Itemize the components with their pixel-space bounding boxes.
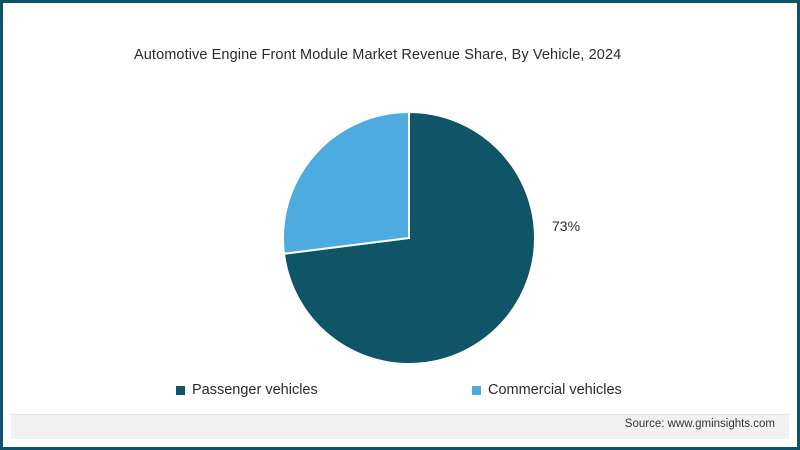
pie-slice[interactable] bbox=[283, 112, 409, 254]
pie-slice-percent-label: 73% bbox=[552, 218, 580, 234]
legend-item-label: Passenger vehicles bbox=[192, 381, 318, 399]
source-bar: Source: www.gminsights.com bbox=[11, 414, 789, 439]
pie-chart bbox=[280, 109, 538, 367]
legend-item-label: Commercial vehicles bbox=[488, 381, 622, 399]
source-attribution: Source: www.gminsights.com bbox=[625, 418, 775, 430]
legend-item-commercial-vehicles[interactable]: Commercial vehicles bbox=[472, 379, 622, 401]
legend-item-passenger-vehicles[interactable]: Passenger vehicles bbox=[176, 379, 318, 401]
chart-container: Automotive Engine Front Module Market Re… bbox=[0, 0, 800, 450]
legend-swatch-icon bbox=[472, 386, 481, 395]
chart-legend: Passenger vehicles Commercial vehicles bbox=[7, 379, 800, 401]
legend-swatch-icon bbox=[176, 386, 185, 395]
page-title: Automotive Engine Front Module Market Re… bbox=[134, 45, 621, 65]
pie-chart-svg bbox=[280, 109, 538, 367]
chart-inner-panel: Automotive Engine Front Module Market Re… bbox=[6, 6, 794, 444]
